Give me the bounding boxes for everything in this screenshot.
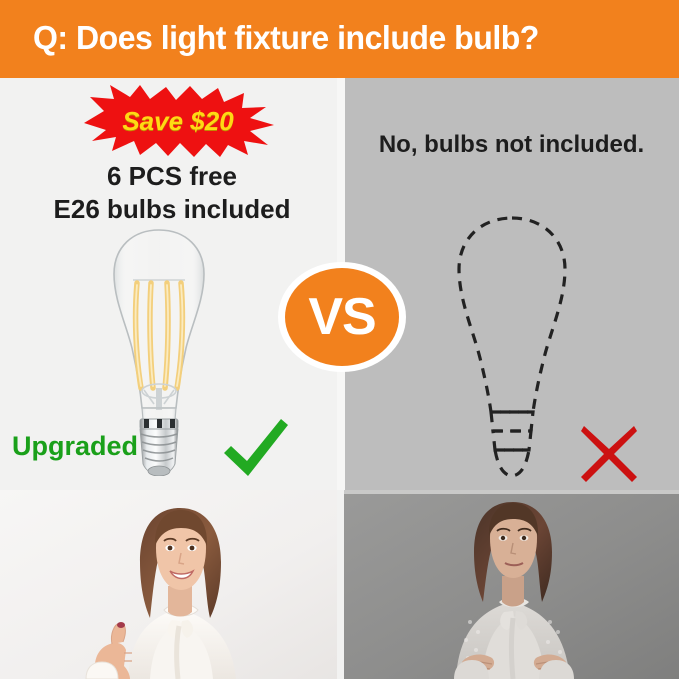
- header-banner: Q: Does light fixture include bulb?: [0, 0, 679, 78]
- left-headline: 6 PCS free E26 bulbs included: [0, 160, 344, 226]
- upgraded-label: Upgraded: [12, 431, 138, 462]
- check-mark-icon: [221, 413, 291, 483]
- photo-negative: [344, 490, 679, 679]
- right-headline: No, bulbs not included.: [344, 131, 679, 159]
- save-badge: Save $20: [78, 83, 278, 159]
- left-headline-line2: E26 bulbs included: [0, 193, 344, 226]
- vs-badge: VS: [278, 262, 406, 372]
- save-badge-label: Save $20: [78, 83, 278, 159]
- photo-positive: [0, 490, 337, 679]
- vs-badge-label: VS: [278, 262, 406, 372]
- comparison-infographic: Q: Does light fixture include bulb? Save…: [0, 0, 679, 679]
- left-headline-line1: 6 PCS free: [0, 160, 344, 193]
- x-mark-icon: [578, 423, 640, 485]
- page-title: Q: Does light fixture include bulb?: [33, 19, 634, 57]
- missing-bulb-outline: [443, 212, 581, 482]
